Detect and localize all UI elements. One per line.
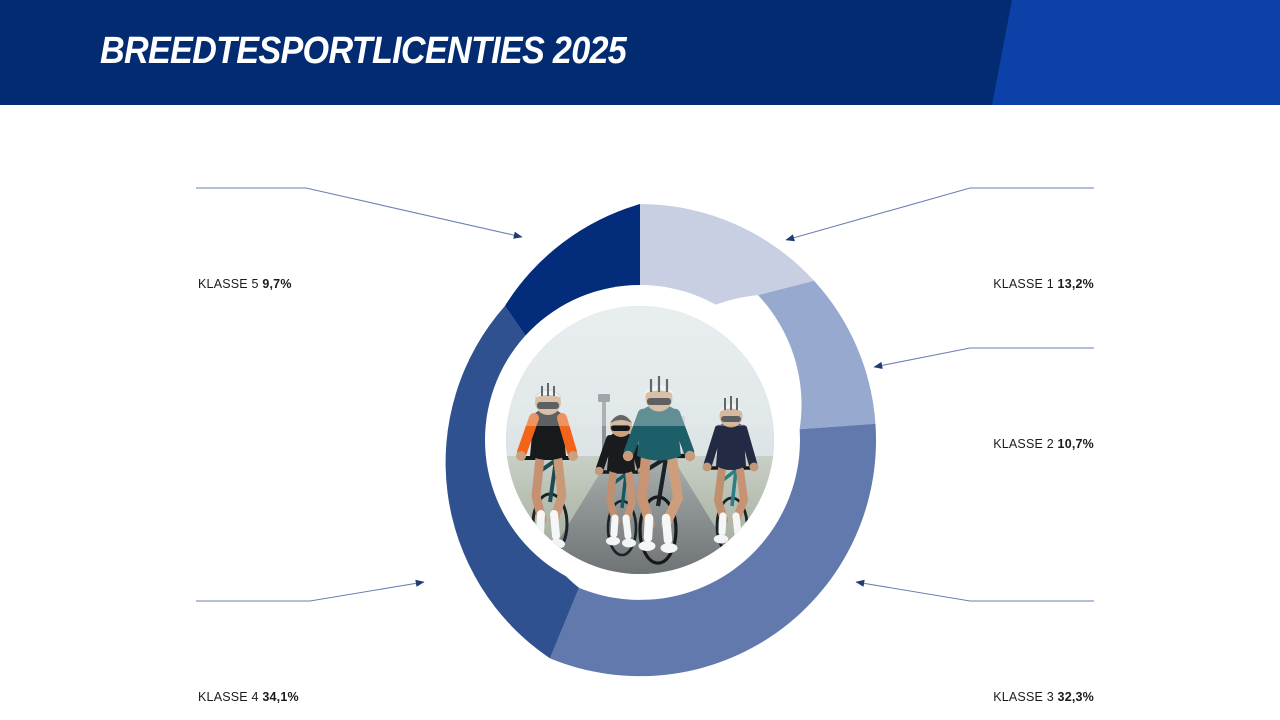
callout-name-klasse-4: KLASSE 4 — [198, 690, 259, 704]
callout-value-klasse-3: 32,3% — [1058, 690, 1094, 704]
slide-header: BREEDTESPORTLICENTIES 2025 — [0, 0, 1280, 105]
callout-name-klasse-5: KLASSE 5 — [198, 277, 259, 291]
callout-value-klasse-4: 34,1% — [262, 690, 298, 704]
callout-label-klasse-3: KLASSE 3 32,3% — [993, 690, 1094, 704]
callout-name-klasse-2: KLASSE 2 — [993, 437, 1054, 451]
callout-label-klasse-5: KLASSE 5 9,7% — [198, 277, 292, 291]
page-title: BREEDTESPORTLICENTIES 2025 — [100, 30, 626, 73]
slide-canvas: BREEDTESPORTLICENTIES 2025 — [0, 0, 1280, 720]
center-photo — [506, 306, 774, 574]
callout-value-klasse-1: 13,2% — [1058, 277, 1094, 291]
callout-value-klasse-2: 10,7% — [1058, 437, 1094, 451]
callout-label-klasse-1: KLASSE 1 13,2% — [993, 277, 1094, 291]
leader-line-klasse-2 — [874, 348, 1094, 367]
callout-label-klasse-2: KLASSE 2 10,7% — [993, 437, 1094, 451]
cyclists-photo — [506, 306, 774, 574]
chart-area: KLASSE 5 9,7% KLASSE 1 13,2% KLASSE 2 10… — [0, 105, 1280, 720]
callout-label-klasse-4: KLASSE 4 34,1% — [198, 690, 299, 704]
donut-chart — [400, 200, 880, 680]
callout-name-klasse-3: KLASSE 3 — [993, 690, 1054, 704]
header-background-accent — [980, 0, 1280, 105]
leader-line-klasse-4 — [196, 582, 424, 601]
callout-name-klasse-1: KLASSE 1 — [993, 277, 1054, 291]
callout-value-klasse-5: 9,7% — [262, 277, 291, 291]
leader-line-klasse-3 — [856, 582, 1094, 601]
